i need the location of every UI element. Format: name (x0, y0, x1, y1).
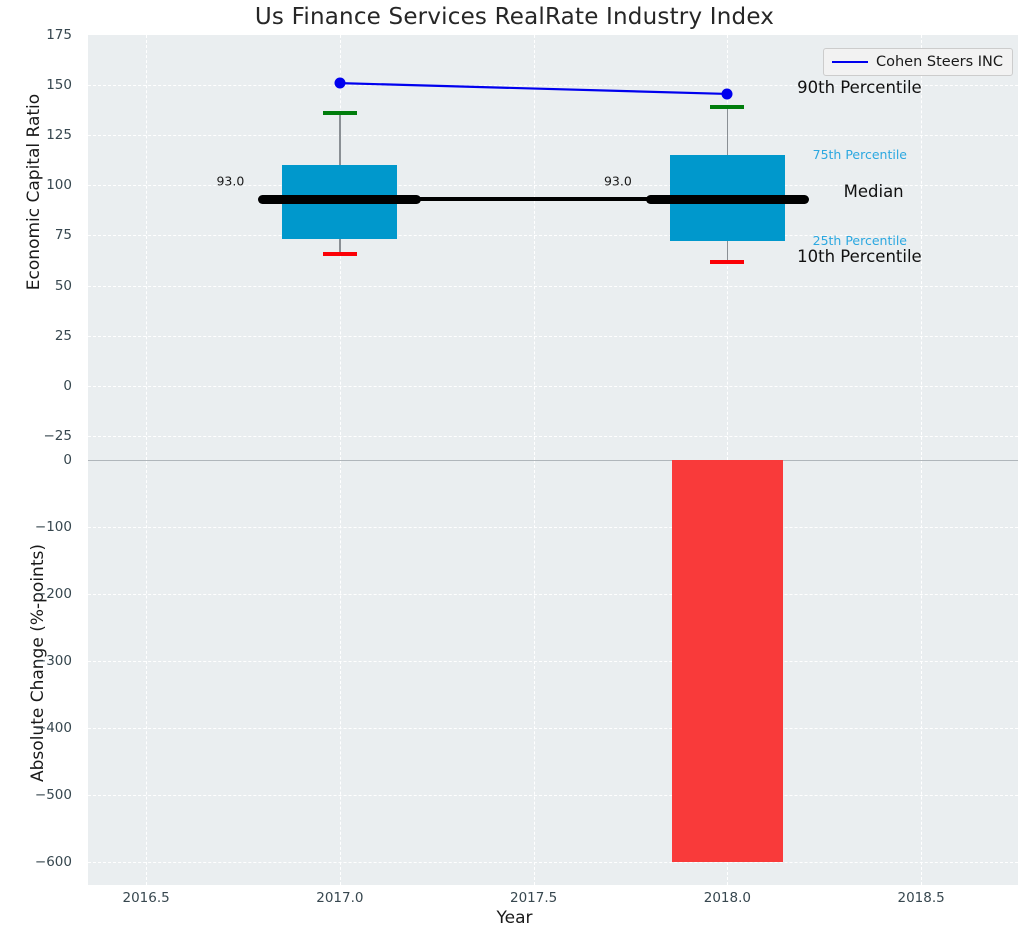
y-tick-label-top: −25 (0, 428, 72, 444)
whisker-cap-10th (710, 260, 744, 264)
median-bar (646, 195, 809, 204)
gridline-horizontal (88, 386, 1018, 387)
gridline-horizontal (88, 728, 1018, 729)
x-tick-label: 2017.0 (316, 890, 363, 906)
annotation-10th-percentile: 10th Percentile (797, 247, 922, 266)
annotation-75th-percentile: 75th Percentile (813, 147, 907, 162)
zero-baseline (88, 460, 1018, 461)
company-line-marker (722, 88, 733, 99)
gridline-vertical (146, 460, 147, 885)
median-value-label: 93.0 (216, 174, 244, 189)
gridline-horizontal (88, 336, 1018, 337)
y-tick-label-top: 0 (0, 378, 72, 394)
whisker-cap-90th (323, 111, 357, 115)
x-tick-label: 2017.5 (510, 890, 557, 906)
y-tick-label-top: 150 (0, 77, 72, 93)
y-tick-label-top: 25 (0, 328, 72, 344)
gridline-vertical (534, 460, 535, 885)
gridline-vertical (146, 35, 147, 460)
annotation-median: Median (844, 182, 904, 201)
legend-label-cohen-steers: Cohen Steers INC (876, 54, 1003, 70)
y-tick-label-bottom: −400 (0, 720, 72, 736)
x-tick-label: 2018.5 (898, 890, 945, 906)
gridline-horizontal (88, 527, 1018, 528)
gridline-vertical (921, 460, 922, 885)
y-tick-label-bottom: −100 (0, 519, 72, 535)
y-tick-label-bottom: −300 (0, 653, 72, 669)
gridline-horizontal (88, 286, 1018, 287)
gridline-horizontal (88, 862, 1018, 863)
whisker-cap-10th (323, 252, 357, 256)
plot-panel-absolute-change (88, 460, 1018, 885)
annotation-90th-percentile: 90th Percentile (797, 78, 922, 97)
x-axis-label: Year (0, 908, 1029, 928)
y-tick-label-top: 75 (0, 227, 72, 243)
y-tick-label-bottom: 0 (0, 452, 72, 468)
y-tick-label-top: 125 (0, 127, 72, 143)
gridline-horizontal (88, 594, 1018, 595)
median-value-label: 93.0 (604, 174, 632, 189)
y-tick-label-bottom: −500 (0, 787, 72, 803)
y-tick-label-top: 100 (0, 177, 72, 193)
gridline-horizontal (88, 135, 1018, 136)
chart-title: Us Finance Services RealRate Industry In… (0, 4, 1029, 30)
median-bar (258, 195, 421, 204)
absolute-change-bar (672, 460, 783, 862)
y-tick-label-top: 50 (0, 278, 72, 294)
median-connector (407, 197, 660, 201)
y-tick-label-top: 175 (0, 27, 72, 43)
gridline-horizontal (88, 795, 1018, 796)
legend-line-swatch (832, 61, 868, 63)
y-tick-label-bottom: −200 (0, 586, 72, 602)
y-tick-label-bottom: −600 (0, 854, 72, 870)
company-line-marker (334, 78, 345, 89)
x-tick-label: 2016.5 (123, 890, 170, 906)
gridline-vertical (534, 35, 535, 460)
gridline-vertical (340, 460, 341, 885)
x-tick-label: 2018.0 (704, 890, 751, 906)
legend[interactable]: Cohen Steers INC (823, 48, 1013, 76)
gridline-horizontal (88, 661, 1018, 662)
gridline-horizontal (88, 436, 1018, 437)
whisker-cap-90th (710, 105, 744, 109)
chart-figure: Us Finance Services RealRate Industry In… (0, 0, 1029, 942)
